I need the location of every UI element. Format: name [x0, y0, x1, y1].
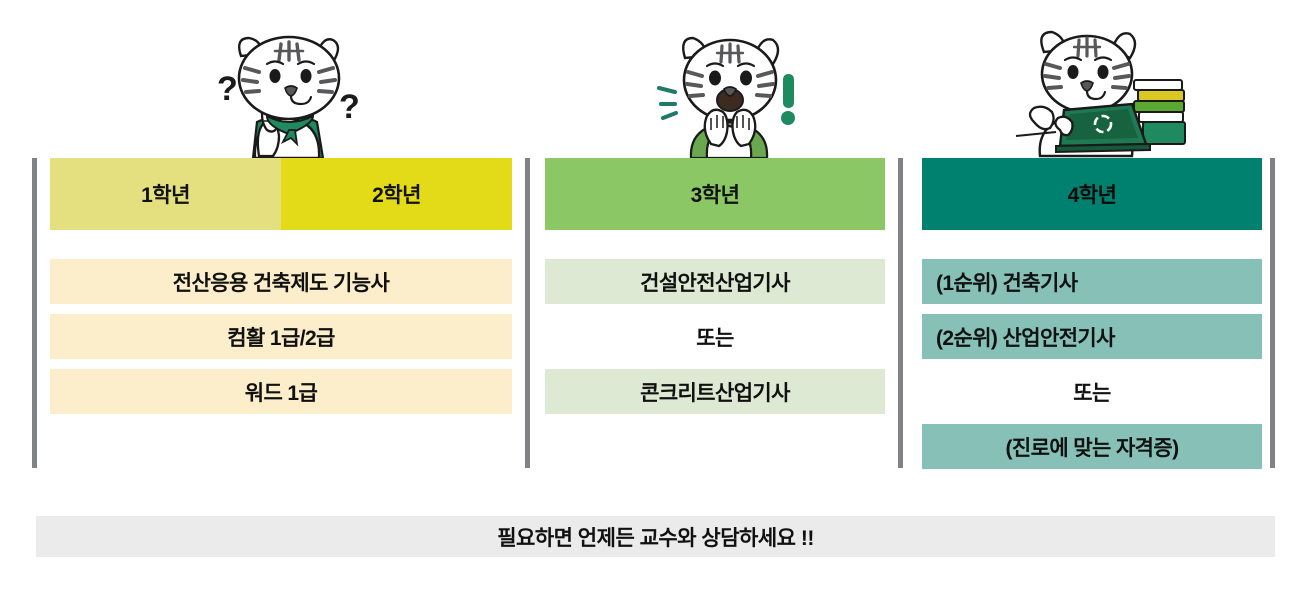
- cert-separator: 또는: [545, 314, 885, 359]
- cert-item-label: (1순위) 건축기사: [936, 267, 1077, 297]
- grade-header-1[interactable]: 1학년: [50, 158, 281, 230]
- grade-header-1-label: 1학년: [141, 179, 190, 209]
- cert-item[interactable]: 콘크리트산업기사: [545, 369, 885, 414]
- cert-list-year-1-2: 전산응용 건축제도 기능사 컴활 1급/2급 워드 1급: [50, 259, 512, 414]
- cert-item-label: (진로에 맞는 자격증): [1005, 432, 1178, 462]
- cert-item-label: 전산응용 건축제도 기능사: [173, 267, 389, 297]
- cert-list-year-4: (1순위) 건축기사 (2순위) 산업안전기사 또는 (진로에 맞는 자격증): [922, 259, 1262, 469]
- consult-banner: 필요하면 언제든 교수와 상담하세요 !!: [36, 516, 1275, 557]
- divider-left: [32, 158, 37, 468]
- cert-item[interactable]: 컴활 1급/2급: [50, 314, 512, 359]
- question-mark-left: ?: [217, 70, 238, 108]
- divider-1: [525, 158, 530, 468]
- surprised-tiger-icon: [655, 18, 805, 158]
- studying-tiger-mascot: [1008, 18, 1188, 158]
- cert-item[interactable]: (1순위) 건축기사: [922, 259, 1262, 304]
- cert-separator: 또는: [922, 369, 1262, 414]
- cert-item-label: 워드 1급: [245, 377, 317, 407]
- grade-header-3[interactable]: 3학년: [545, 158, 885, 230]
- grade-header-2[interactable]: 2학년: [281, 158, 512, 230]
- grade-header-4[interactable]: 4학년: [922, 158, 1262, 230]
- cert-separator-label: 또는: [1073, 377, 1110, 407]
- grade-header-row-4: 4학년: [922, 158, 1262, 230]
- column-year-3: 3학년 건설안전산업기사 또는 콘크리트산업기사: [545, 158, 885, 414]
- cert-item-label: 컴활 1급/2급: [227, 322, 335, 352]
- cert-item[interactable]: 워드 1급: [50, 369, 512, 414]
- divider-right: [1270, 158, 1275, 468]
- column-year-1-2: 1학년 2학년 전산응용 건축제도 기능사 컴활 1급/2급 워드 1급: [50, 158, 512, 414]
- cert-item[interactable]: (2순위) 산업안전기사: [922, 314, 1262, 359]
- thinking-tiger-icon: ? ?: [205, 18, 370, 158]
- studying-tiger-icon: [1008, 18, 1188, 158]
- cert-separator-label: 또는: [696, 322, 733, 352]
- consult-banner-message: 필요하면 언제든 교수와 상담하세요 !!: [497, 522, 814, 552]
- grade-header-row-1: 1학년 2학년: [50, 158, 512, 230]
- cert-item-label: 콘크리트산업기사: [640, 377, 790, 407]
- cert-item[interactable]: 전산응용 건축제도 기능사: [50, 259, 512, 304]
- mascot-row: ? ?: [0, 0, 1309, 158]
- grade-header-4-label: 4학년: [1068, 179, 1117, 209]
- exclamation-dot: [781, 111, 795, 125]
- grade-header-row-3: 3학년: [545, 158, 885, 230]
- thinking-tiger-mascot: ? ?: [205, 18, 370, 158]
- grade-header-3-label: 3학년: [691, 179, 740, 209]
- cert-item[interactable]: 건설안전산업기사: [545, 259, 885, 304]
- exclamation-bar: [783, 74, 794, 108]
- cert-item-label: 건설안전산업기사: [640, 267, 790, 297]
- question-mark-right: ?: [339, 88, 360, 126]
- cert-item-label: (2순위) 산업안전기사: [936, 322, 1115, 352]
- cert-item[interactable]: (진로에 맞는 자격증): [922, 424, 1262, 469]
- cert-list-year-3: 건설안전산업기사 또는 콘크리트산업기사: [545, 259, 885, 414]
- column-year-4: 4학년 (1순위) 건축기사 (2순위) 산업안전기사 또는 (진로에 맞는 자…: [922, 158, 1262, 469]
- grade-columns: 1학년 2학년 전산응용 건축제도 기능사 컴활 1급/2급 워드 1급 3학년: [0, 158, 1309, 470]
- surprised-tiger-mascot: [655, 18, 805, 158]
- grade-header-2-label: 2학년: [372, 179, 421, 209]
- divider-2: [898, 158, 903, 468]
